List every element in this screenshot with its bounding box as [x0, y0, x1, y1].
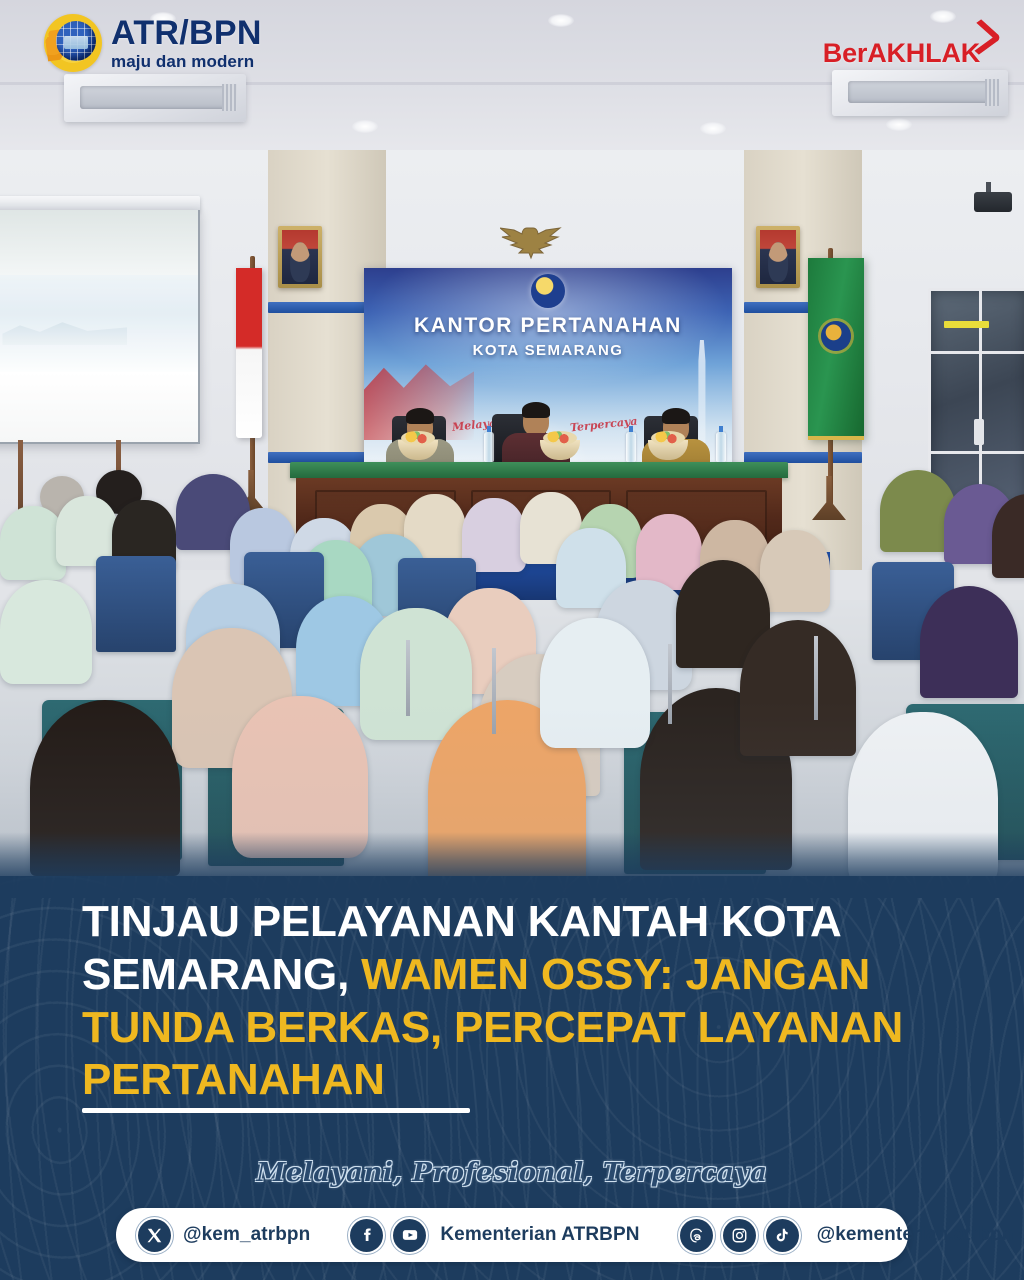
attendee: [740, 620, 856, 756]
downlight-icon: [548, 14, 574, 27]
ceiling-projector-icon: [974, 192, 1012, 212]
chair-leg: [492, 648, 496, 734]
garuda-pancasila-icon: [500, 216, 562, 264]
downlight-icon: [352, 120, 378, 133]
social-group-threads-instagram-tiktok: @kementerian.atrbpn: [680, 1219, 1014, 1252]
atrbpn-ceremonial-flag-icon: [808, 258, 864, 440]
air-conditioner-unit: [64, 74, 246, 122]
tiktok-icon[interactable]: [766, 1219, 799, 1252]
berakhlak-label: BerAKHLAK: [823, 38, 980, 68]
social-group-facebook-youtube: Kementerian ATRBPN: [350, 1219, 639, 1252]
projector-screen: [0, 210, 200, 444]
downlight-icon: [930, 10, 956, 23]
atrbpn-emblem-icon: [531, 274, 565, 308]
attendee: [0, 580, 92, 684]
logo-title: ATR/BPN: [111, 16, 262, 50]
facebook-icon[interactable]: [350, 1219, 383, 1252]
backdrop-title-line1: KANTOR PERTANAHAN: [364, 314, 732, 338]
youtube-icon[interactable]: [393, 1219, 426, 1252]
air-conditioner-unit: [832, 70, 1008, 116]
headline: TINJAU PELAYANAN KANTAH KOTA SEMARANG, W…: [82, 896, 962, 1107]
divider-rule: [82, 1108, 470, 1113]
berakhlak-logo: BerAKHLAK: [823, 38, 980, 69]
atrbpn-globe-emblem-icon: [44, 14, 102, 72]
indonesia-flag-icon: [236, 268, 262, 438]
social-media-bar: @kem_atrbpn Kementerian ATRBPN @kementer…: [116, 1208, 908, 1262]
downlight-icon: [886, 118, 912, 131]
water-bottle: [484, 432, 494, 462]
attendee: [540, 618, 650, 748]
facebook-youtube-handle[interactable]: Kementerian ATRBPN: [440, 1224, 639, 1246]
instagram-icon[interactable]: [723, 1219, 756, 1252]
logo-subtitle: maju dan modern: [111, 53, 262, 70]
water-bottle: [716, 432, 726, 462]
audience-chair: [96, 556, 176, 652]
x-handle[interactable]: @kem_atrbpn: [183, 1224, 310, 1246]
chair-leg: [406, 640, 410, 716]
attendee: [920, 586, 1018, 698]
threads-icon[interactable]: [680, 1219, 713, 1252]
official-portrait-frame: [756, 226, 800, 288]
threads-instagram-tiktok-handle[interactable]: @kementerian.atrbpn: [817, 1224, 1014, 1246]
attendee: [360, 608, 472, 740]
attendee: [760, 530, 830, 612]
photo-fade-overlay: [0, 832, 1024, 898]
head-table-top: [290, 462, 788, 478]
backdrop-title-line2: KOTA SEMARANG: [364, 342, 732, 359]
x-twitter-icon[interactable]: [138, 1219, 171, 1252]
tagline: Melayani, Profesional, Terpercaya: [0, 1158, 1024, 1188]
chair-leg: [668, 644, 672, 724]
social-media-poster: KANTOR PERTANAHAN KOTA SEMARANG Melayani…: [0, 0, 1024, 1280]
atrbpn-logo: ATR/BPN maju dan modern: [44, 14, 262, 72]
social-group-x: @kem_atrbpn: [138, 1219, 310, 1252]
chair-leg: [814, 636, 818, 720]
water-bottle: [626, 432, 636, 462]
event-photograph: KANTOR PERTANAHAN KOTA SEMARANG Melayani…: [0, 0, 1024, 900]
downlight-icon: [700, 122, 726, 135]
official-portrait-frame: [278, 226, 322, 288]
